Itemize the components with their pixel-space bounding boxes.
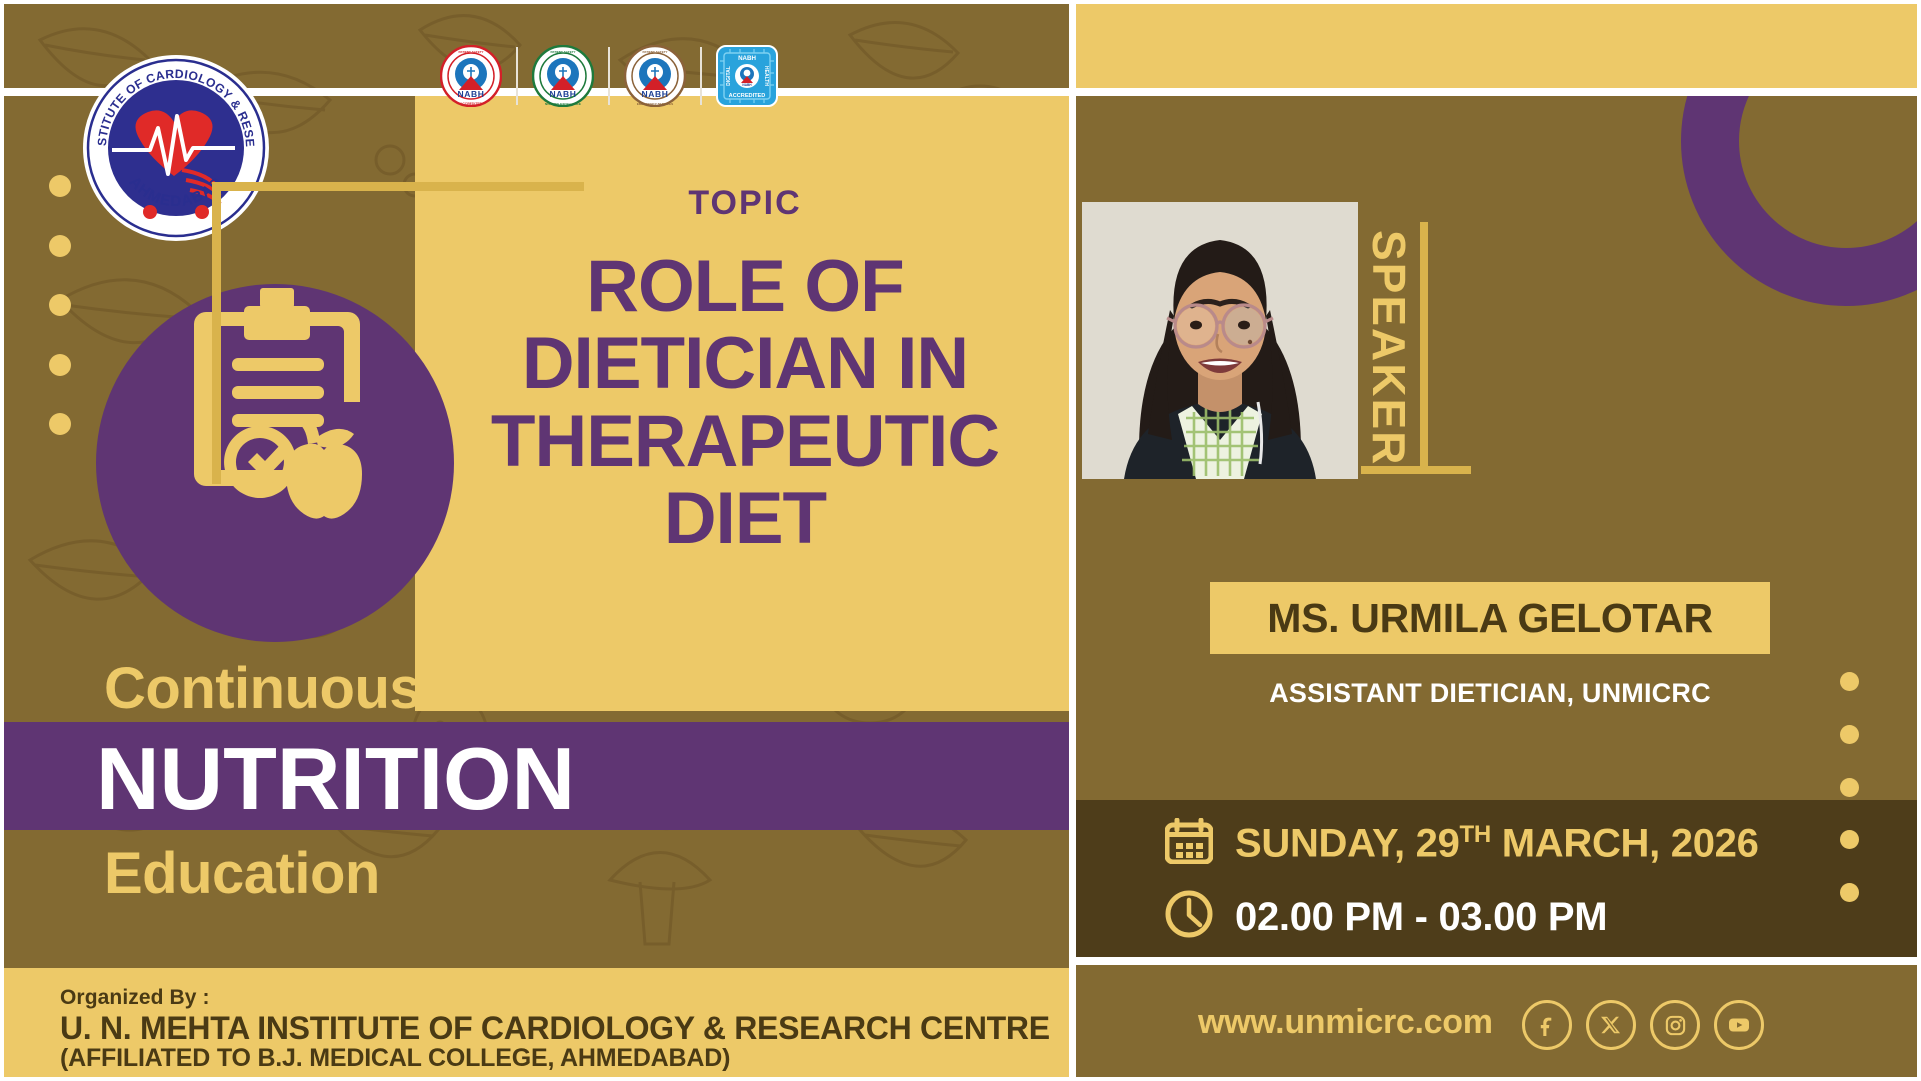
right-top-yellow-strip — [1076, 0, 1921, 88]
nabh-accredited-badge: NABH ACCREDITED PATIENT SAFETY — [440, 45, 502, 107]
badge-divider — [516, 47, 518, 105]
youtube-icon[interactable] — [1714, 1000, 1764, 1050]
svg-text:PATIENT SAFETY: PATIENT SAFETY — [458, 50, 483, 54]
organized-by-label: Organized By : — [60, 986, 210, 1010]
right-bottom-divider — [1069, 957, 1921, 965]
instagram-icon[interactable] — [1650, 1000, 1700, 1050]
svg-text:PATIENT SAFETY: PATIENT SAFETY — [550, 50, 575, 54]
badge-divider — [700, 47, 702, 105]
right-top-divider — [1069, 88, 1921, 96]
clock-icon — [1165, 890, 1213, 943]
organizer-affiliation: (AFFILIATED TO B.J. MEDICAL COLLEGE, AHM… — [60, 1044, 730, 1073]
cne-nutrition-text: NUTRITION — [96, 735, 575, 823]
organizer-name: U. N. MEHTA INSTITUTE OF CARDIOLOGY & RE… — [60, 1010, 1050, 1047]
speaker-accent-bar-bottom — [1361, 466, 1471, 474]
event-time-row: 02.00 PM - 03.00 PM — [1165, 890, 1607, 943]
cne-education-text: Education — [104, 845, 380, 903]
accreditation-badges: NABH ACCREDITED PATIENT SAFETY NABH NURS… — [440, 40, 778, 112]
purple-arc-decoration — [1681, 96, 1921, 306]
panel-divider-vertical — [1069, 0, 1076, 1081]
svg-text:EMERGENCY SERVICES: EMERGENCY SERVICES — [637, 102, 673, 106]
poster-canvas: U. N. MEHTA INSTITUTE OF CARDIOLOGY & RE… — [0, 0, 1921, 1081]
speaker-accent-bar — [1420, 222, 1428, 472]
calendar-icon — [1165, 818, 1213, 869]
cne-continuous-text: Continuous — [104, 660, 421, 718]
topic-title-line-4: DIET — [430, 480, 1060, 557]
nabh-emergency-badge: NABH EMERGENCY SERVICES PATIENT SAFETY — [624, 45, 686, 107]
speaker-label: SPEAKER — [1362, 230, 1416, 466]
badge-divider — [608, 47, 610, 105]
svg-text:NABH: NABH — [458, 89, 485, 99]
nabh-digital-health-badge: NABH NABH ACCREDITED DIGITAL HEALTH — [716, 45, 778, 107]
speaker-portrait — [1082, 202, 1358, 479]
right-decorative-dots — [1840, 672, 1866, 902]
speaker-name: MS. URMILA GELOTAR — [1267, 595, 1713, 642]
speaker-name-box: MS. URMILA GELOTAR — [1210, 582, 1770, 654]
photo-frame — [212, 182, 584, 484]
event-date-prefix: SUNDAY, 29 — [1235, 822, 1460, 866]
svg-text:PATIENT SAFETY: PATIENT SAFETY — [642, 50, 667, 54]
website-url[interactable]: www.unmicrc.com — [1198, 1003, 1493, 1042]
social-links — [1522, 1000, 1764, 1050]
event-date-row: SUNDAY, 29TH MARCH, 2026 — [1165, 818, 1759, 869]
event-time-text: 02.00 PM - 03.00 PM — [1235, 897, 1607, 937]
x-twitter-icon[interactable] — [1586, 1000, 1636, 1050]
event-date-text: SUNDAY, 29TH MARCH, 2026 — [1235, 823, 1759, 863]
svg-text:NABH: NABH — [550, 89, 577, 99]
svg-text:HEALTH: HEALTH — [763, 66, 769, 86]
svg-text:NURSING EXCELLENCE: NURSING EXCELLENCE — [545, 102, 581, 106]
speaker-designation: ASSISTANT DIETICIAN, UNMICRC — [1210, 678, 1770, 709]
svg-text:DIGITAL: DIGITAL — [726, 66, 732, 86]
svg-text:NABH: NABH — [742, 83, 752, 87]
svg-text:ACCREDITED: ACCREDITED — [729, 93, 766, 99]
left-panel: U. N. MEHTA INSTITUTE OF CARDIOLOGY & RE… — [0, 0, 1069, 1081]
svg-text:ACCREDITED: ACCREDITED — [460, 102, 483, 106]
event-date-ordinal: TH — [1460, 821, 1491, 848]
svg-text:NABH: NABH — [738, 55, 756, 62]
facebook-icon[interactable] — [1522, 1000, 1572, 1050]
event-date-suffix: MARCH, 2026 — [1491, 822, 1759, 866]
nabh-nursing-badge: NABH NURSING EXCELLENCE PATIENT SAFETY — [532, 45, 594, 107]
left-decorative-dots — [49, 175, 79, 435]
svg-text:NABH: NABH — [642, 89, 669, 99]
